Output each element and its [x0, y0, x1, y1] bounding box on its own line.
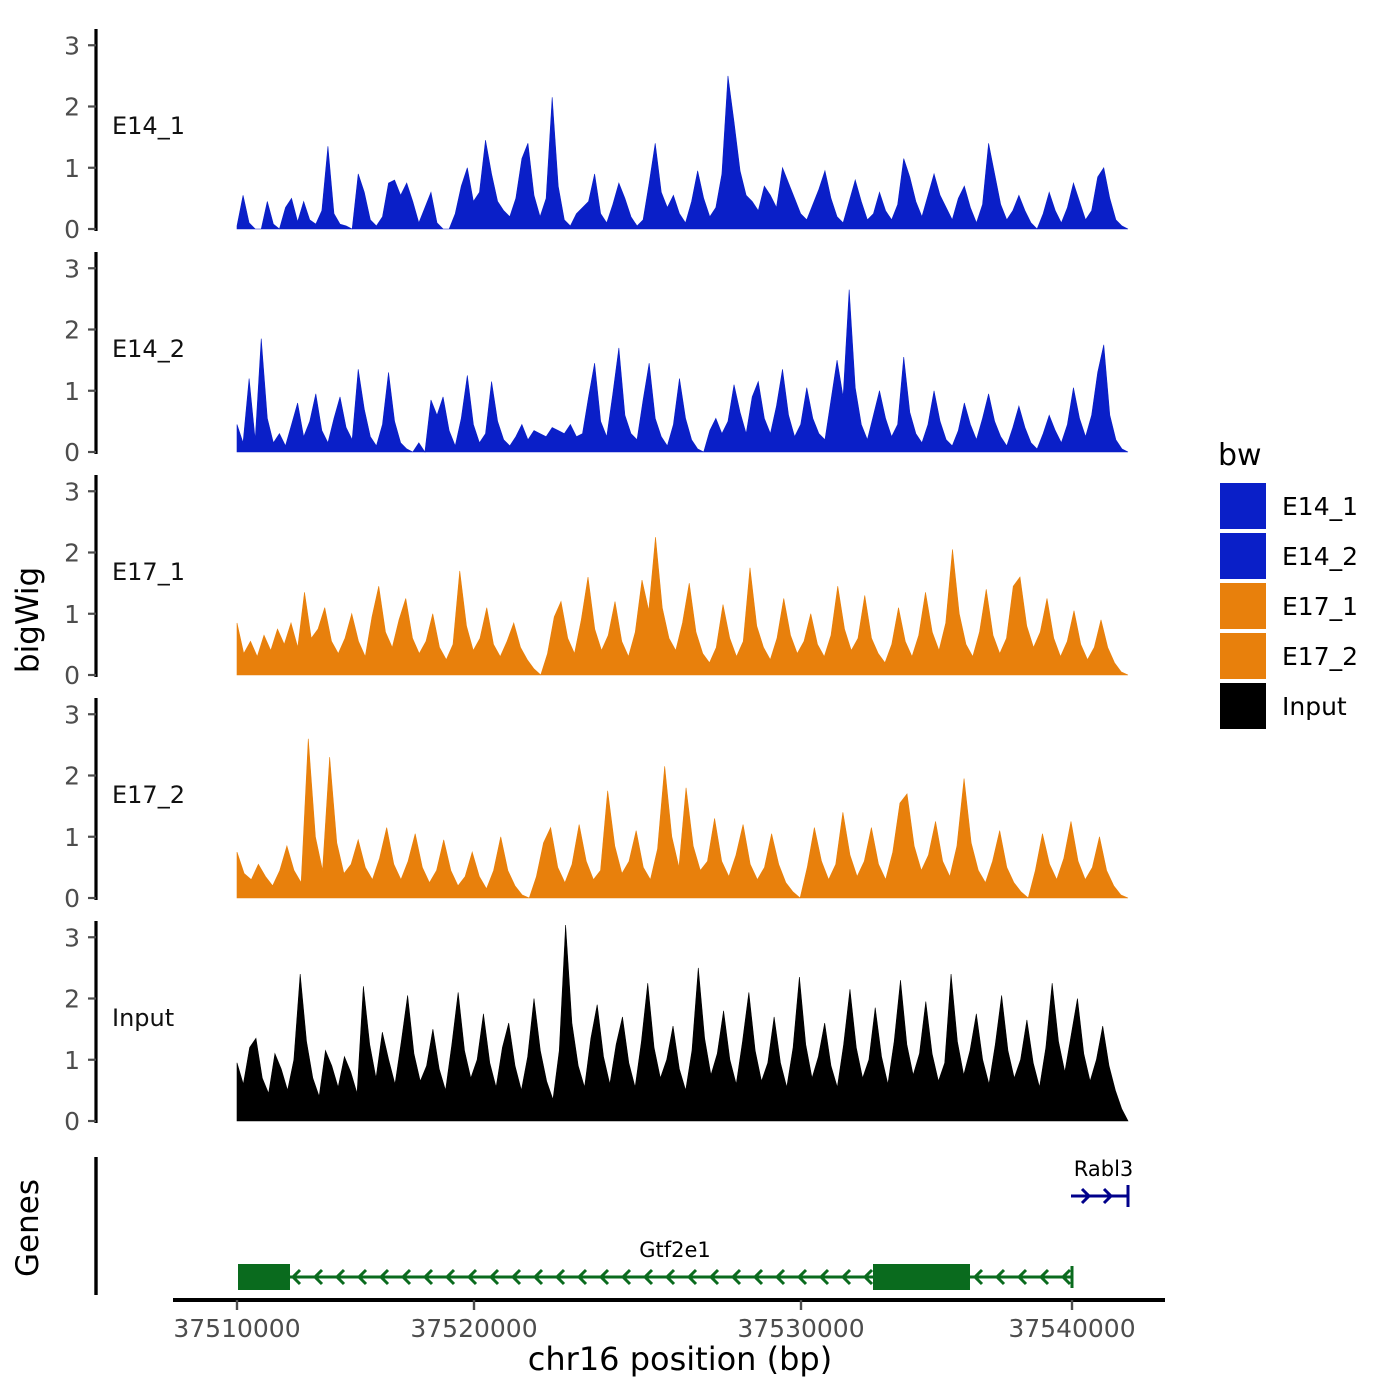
x-axis-title: chr16 position (bp)	[528, 1340, 832, 1378]
panel-label-Input: Input	[112, 1004, 174, 1032]
legend-swatch-E17_1[interactable]	[1220, 583, 1266, 629]
y-tick-label: 2	[64, 762, 80, 791]
gene-exon	[238, 1264, 290, 1290]
y-axis-title-bigwig: bigWig	[10, 567, 46, 673]
y-axis-title-genes: Genes	[10, 1179, 46, 1277]
gene-label-Gtf2e1: Gtf2e1	[639, 1238, 711, 1262]
panel-label-E17_1: E17_1	[112, 558, 185, 586]
x-tick-label: 37530000	[737, 1314, 864, 1343]
y-tick-label: 2	[64, 316, 80, 345]
y-tick-label: 3	[64, 477, 80, 506]
y-tick-label: 0	[64, 884, 80, 913]
legend-swatch-E17_2[interactable]	[1220, 633, 1266, 679]
x-tick-label: 37540000	[1008, 1314, 1135, 1343]
gene-label-Rabl3: Rabl3	[1074, 1157, 1134, 1181]
legend-label-E17_2: E17_2	[1282, 642, 1358, 671]
legend-label-E14_2: E14_2	[1282, 542, 1358, 571]
legend-swatch-E14_2[interactable]	[1220, 533, 1266, 579]
y-tick-label: 1	[64, 154, 80, 183]
x-tick-label: 37520000	[410, 1314, 537, 1343]
y-tick-label: 1	[64, 377, 80, 406]
y-tick-label: 0	[64, 1107, 80, 1136]
y-tick-label: 1	[64, 823, 80, 852]
y-tick-label: 0	[64, 215, 80, 244]
y-tick-label: 3	[64, 31, 80, 60]
y-tick-label: 1	[64, 600, 80, 629]
legend-title: bw	[1218, 438, 1262, 473]
y-tick-label: 1	[64, 1046, 80, 1075]
figure-root: 0123E14_10123E14_20123E17_10123E17_20123…	[0, 0, 1400, 1400]
legend-label-Input: Input	[1282, 692, 1347, 721]
y-tick-label: 3	[64, 700, 80, 729]
y-tick-label: 3	[64, 923, 80, 952]
y-tick-label: 0	[64, 438, 80, 467]
legend-label-E14_1: E14_1	[1282, 492, 1358, 521]
y-tick-label: 2	[64, 985, 80, 1014]
y-tick-label: 2	[64, 539, 80, 568]
panel-label-E14_2: E14_2	[112, 335, 185, 363]
panel-label-E14_1: E14_1	[112, 112, 185, 140]
legend-label-E17_1: E17_1	[1282, 592, 1358, 621]
x-tick-label: 37510000	[173, 1314, 300, 1343]
genome-browser-figure: 0123E14_10123E14_20123E17_10123E17_20123…	[0, 0, 1400, 1400]
legend-swatch-Input[interactable]	[1220, 683, 1266, 729]
y-tick-label: 2	[64, 93, 80, 122]
y-tick-label: 3	[64, 254, 80, 283]
legend-swatch-E14_1[interactable]	[1220, 483, 1266, 529]
y-tick-label: 0	[64, 661, 80, 690]
panel-label-E17_2: E17_2	[112, 781, 185, 809]
gene-exon	[873, 1264, 970, 1290]
